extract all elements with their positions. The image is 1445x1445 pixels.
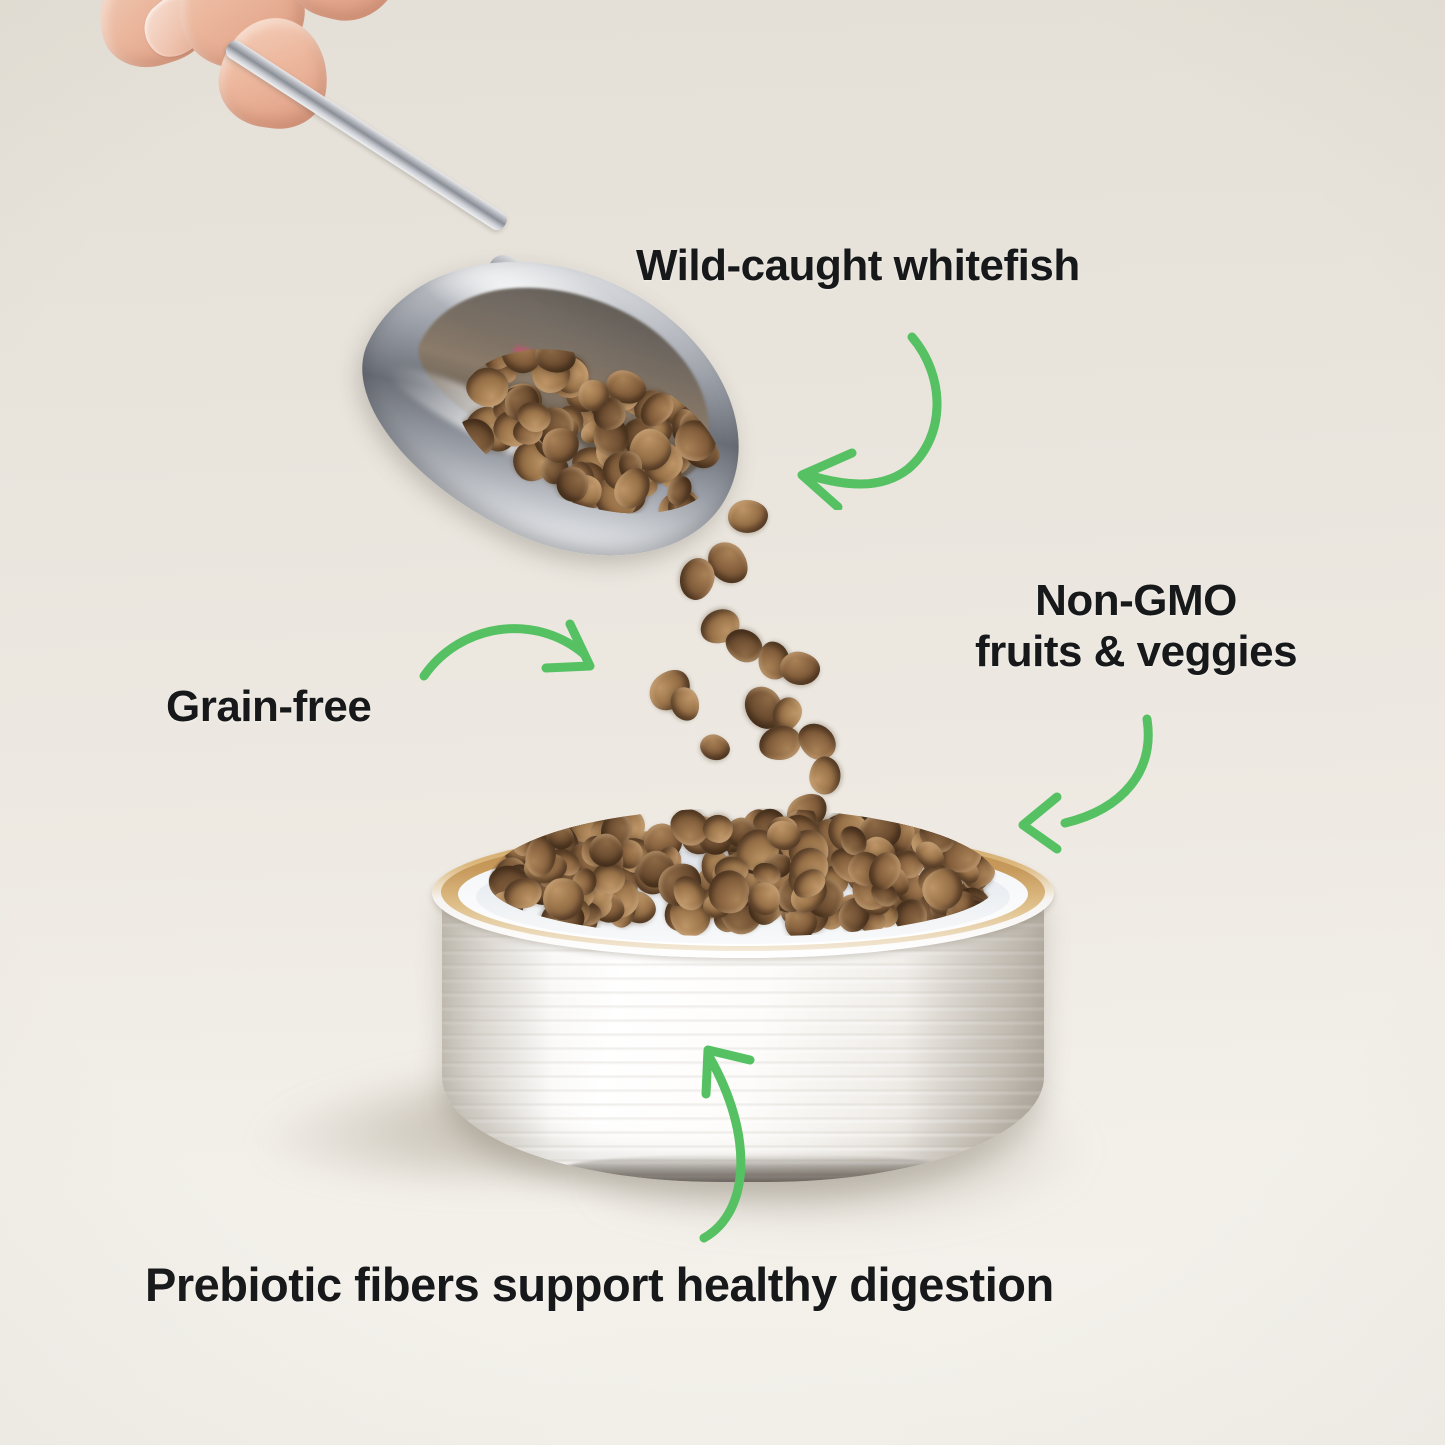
label-prebiotic-fibers: Prebiotic fibers support healthy digesti…	[145, 1258, 1054, 1313]
falling-kibble-piece	[728, 500, 768, 533]
bowl-base-shadow	[562, 1154, 954, 1182]
label-non-gmo-fruits-veggies: Non-GMO fruits & veggies	[915, 575, 1357, 677]
falling-kibble-piece	[808, 755, 843, 796]
label-wild-caught-whitefish: Wild-caught whitefish	[636, 240, 1080, 291]
kibble-in-bowl	[488, 808, 998, 936]
label-grain-free: Grain-free	[166, 681, 371, 732]
product-photo-stage: Wild-caught whitefish Non-GMO fruits & v…	[0, 0, 1445, 1445]
falling-kibble-piece	[696, 730, 733, 764]
ceramic-bowl	[432, 800, 1054, 1200]
